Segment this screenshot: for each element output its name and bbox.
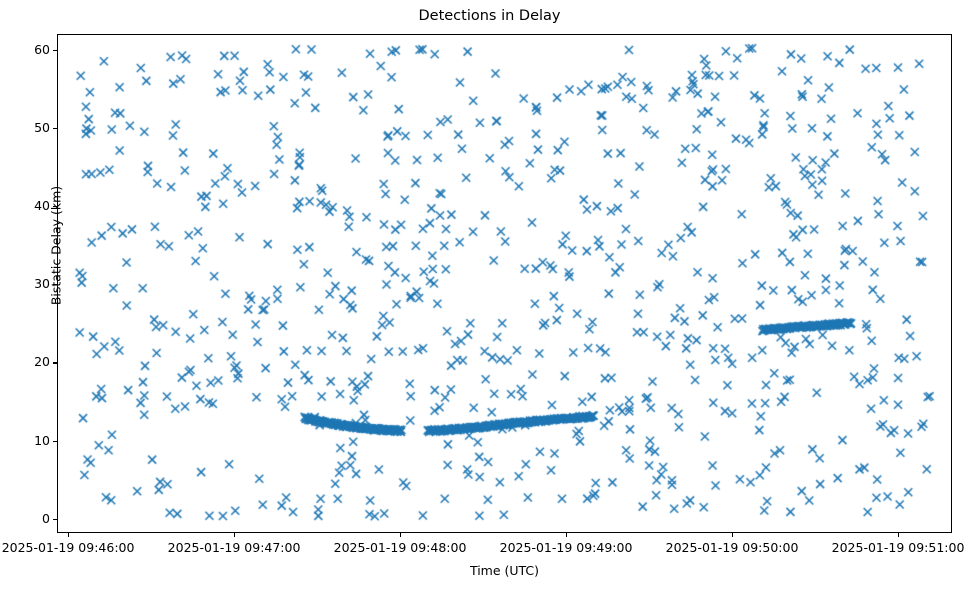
y-axis-label: Bistatic Delay (km) — [49, 146, 64, 346]
x-tick-mark — [566, 533, 567, 537]
y-tick-mark — [53, 128, 57, 129]
x-tick-mark — [234, 533, 235, 537]
x-tick-label: 2025-01-19 09:49:00 — [481, 540, 651, 555]
scatter-plot-canvas — [58, 35, 951, 532]
chart-title: Detections in Delay — [0, 8, 979, 24]
y-tick-mark — [53, 50, 57, 51]
x-tick-label: 2025-01-19 09:51:00 — [813, 540, 979, 555]
plot-area — [57, 34, 952, 533]
y-tick-mark — [53, 519, 57, 520]
x-axis-label: Time (UTC) — [57, 563, 952, 578]
x-tick-mark — [732, 533, 733, 537]
x-tick-mark — [68, 533, 69, 537]
y-tick-label: 50 — [4, 122, 50, 134]
y-tick-mark — [53, 362, 57, 363]
x-tick-mark — [400, 533, 401, 537]
y-tick-label: 60 — [4, 44, 50, 56]
y-tick-label: 10 — [4, 435, 50, 447]
y-tick-label: 0 — [4, 513, 50, 525]
x-tick-label: 2025-01-19 09:50:00 — [647, 540, 817, 555]
matplotlib-figure: Detections in Delay 0102030405060 2025-0… — [0, 0, 979, 590]
y-tick-label: 20 — [4, 356, 50, 368]
x-tick-mark — [898, 533, 899, 537]
y-tick-mark — [53, 441, 57, 442]
x-tick-label: 2025-01-19 09:46:00 — [0, 540, 153, 555]
y-tick-label: 30 — [4, 278, 50, 290]
x-tick-label: 2025-01-19 09:48:00 — [315, 540, 485, 555]
x-tick-label: 2025-01-19 09:47:00 — [149, 540, 319, 555]
y-tick-label: 40 — [4, 200, 50, 212]
y-axis-tick-labels: 0102030405060 — [0, 0, 50, 590]
